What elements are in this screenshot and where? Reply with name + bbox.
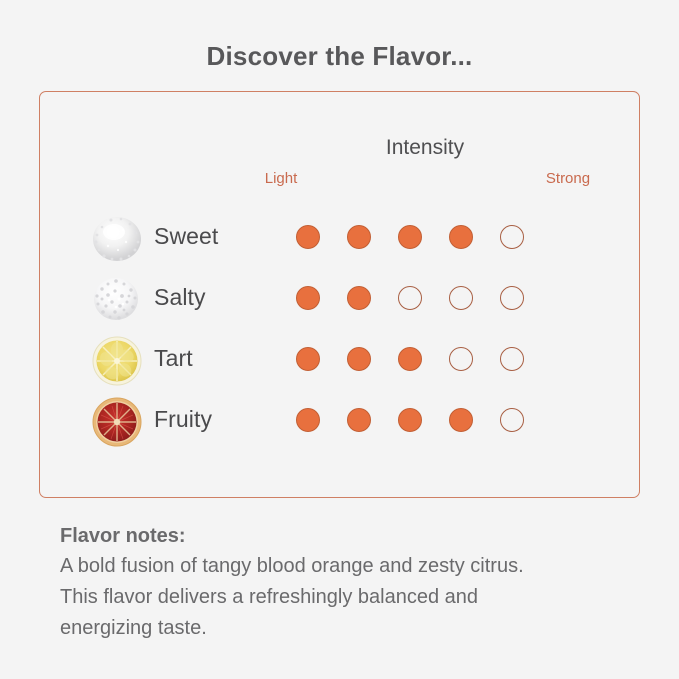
flavor-label-sweet: Sweet [154, 206, 218, 267]
intensity-dots-fruity [296, 389, 524, 450]
intensity-dot[interactable] [347, 286, 371, 310]
intensity-dot[interactable] [500, 225, 524, 249]
flavor-row-tart: Tart [0, 328, 679, 389]
intensity-dot[interactable] [347, 408, 371, 432]
scale-label-light: Light [236, 170, 326, 187]
scale-label-strong: Strong [523, 170, 613, 187]
flavor-profile-page: Discover the Flavor... Intensity Light S… [0, 0, 679, 679]
intensity-dot[interactable] [500, 347, 524, 371]
flavor-row-fruity: Fruity [0, 389, 679, 450]
intensity-heading: Intensity [240, 136, 610, 160]
intensity-dot[interactable] [347, 225, 371, 249]
intensity-dot[interactable] [296, 347, 320, 371]
flavor-row-salty: Salty [0, 267, 679, 328]
salt-pile-icon [88, 269, 146, 327]
flavor-row-sweet: Sweet [0, 206, 679, 267]
intensity-dot[interactable] [500, 408, 524, 432]
intensity-dot[interactable] [398, 347, 422, 371]
lemon-slice-icon [88, 330, 146, 388]
flavor-notes-body: A bold fusion of tangy blood orange and … [60, 551, 640, 644]
intensity-dot[interactable] [449, 286, 473, 310]
intensity-dot[interactable] [296, 408, 320, 432]
intensity-dot[interactable] [347, 347, 371, 371]
intensity-dot[interactable] [449, 408, 473, 432]
intensity-dots-sweet [296, 206, 524, 267]
intensity-dot[interactable] [296, 286, 320, 310]
intensity-dot[interactable] [296, 225, 320, 249]
flavor-notes-heading: Flavor notes: [60, 521, 640, 551]
intensity-dot[interactable] [449, 347, 473, 371]
intensity-dot[interactable] [398, 286, 422, 310]
intensity-dots-tart [296, 328, 524, 389]
flavor-label-salty: Salty [154, 267, 206, 328]
intensity-dots-salty [296, 267, 524, 328]
page-title: Discover the Flavor... [0, 41, 679, 72]
flavor-notes: Flavor notes: A bold fusion of tangy blo… [60, 521, 640, 644]
intensity-dot[interactable] [449, 225, 473, 249]
flavor-label-fruity: Fruity [154, 389, 212, 450]
sugar-mound-icon [88, 208, 146, 266]
intensity-dot[interactable] [398, 225, 422, 249]
intensity-dot[interactable] [398, 408, 422, 432]
flavor-label-tart: Tart [154, 328, 193, 389]
blood-orange-slice-icon [88, 391, 146, 449]
intensity-dot[interactable] [500, 286, 524, 310]
flavor-rows: Sweet [0, 206, 679, 450]
